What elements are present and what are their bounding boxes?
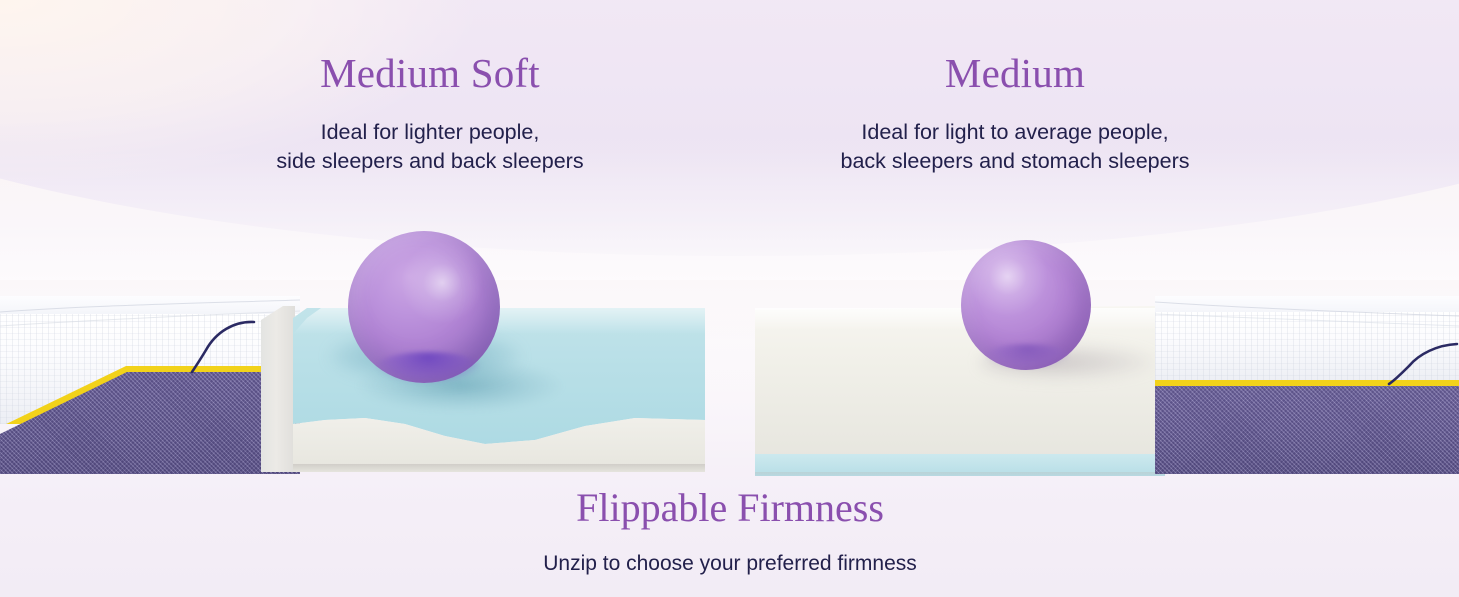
mattress-right-fabric-side xyxy=(1155,386,1459,474)
sphere-right-contact-rim xyxy=(985,344,1069,368)
column-heading-medium-soft: Medium Soft xyxy=(230,52,630,95)
foam-left-base-shadow xyxy=(293,464,705,472)
sphere-left-contact-rim xyxy=(376,352,480,382)
column-subtitle-medium-soft: Ideal for lighter people, side sleepers … xyxy=(190,118,670,176)
foam-left-side-panel xyxy=(261,306,295,472)
footer-heading: Flippable Firmness xyxy=(430,487,1030,529)
firmness-comparison-graphic: Medium Soft Ideal for lighter people, si… xyxy=(0,0,1459,597)
column-heading-medium: Medium xyxy=(815,52,1215,95)
mattress-right-seam-lines xyxy=(1155,296,1459,330)
column-subtitle-medium: Ideal for light to average people, back … xyxy=(775,118,1255,176)
foam-right-top-sheen xyxy=(755,308,1165,330)
covered-mattress-right xyxy=(1155,296,1459,478)
foam-right-base-shadow xyxy=(755,472,1165,476)
footer-subtitle: Unzip to choose your preferred firmness xyxy=(430,550,1030,577)
foam-slab-medium xyxy=(755,306,1165,476)
zipper-pull-icon-right xyxy=(1351,340,1459,388)
